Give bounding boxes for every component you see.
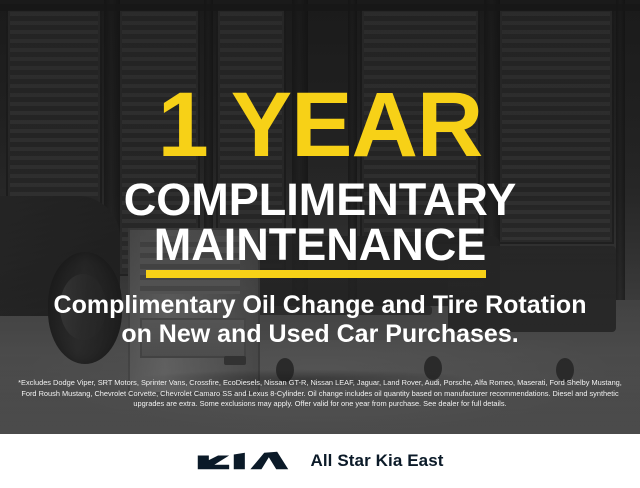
accent-divider (146, 270, 486, 278)
body-line-2: on New and Used Car Purchases. (0, 320, 640, 349)
body-line-1: Complimentary Oil Change and Tire Rotati… (0, 291, 640, 320)
subheadline-line-1: COMPLIMENTARY (0, 177, 640, 222)
headline: 1 YEAR (0, 79, 640, 171)
disclaimer-text: *Excludes Dodge Viper, SRT Motors, Sprin… (14, 378, 626, 410)
promo-content: 1 YEAR COMPLIMENTARY MAINTENANCE Complim… (0, 0, 640, 434)
dealer-name: All Star Kia East (310, 451, 443, 471)
subheadline-line-2: MAINTENANCE (0, 222, 640, 267)
kia-logo-icon (196, 449, 290, 473)
promo-banner: 1 YEAR COMPLIMENTARY MAINTENANCE Complim… (0, 0, 640, 488)
footer-bar: All Star Kia East (0, 434, 640, 488)
